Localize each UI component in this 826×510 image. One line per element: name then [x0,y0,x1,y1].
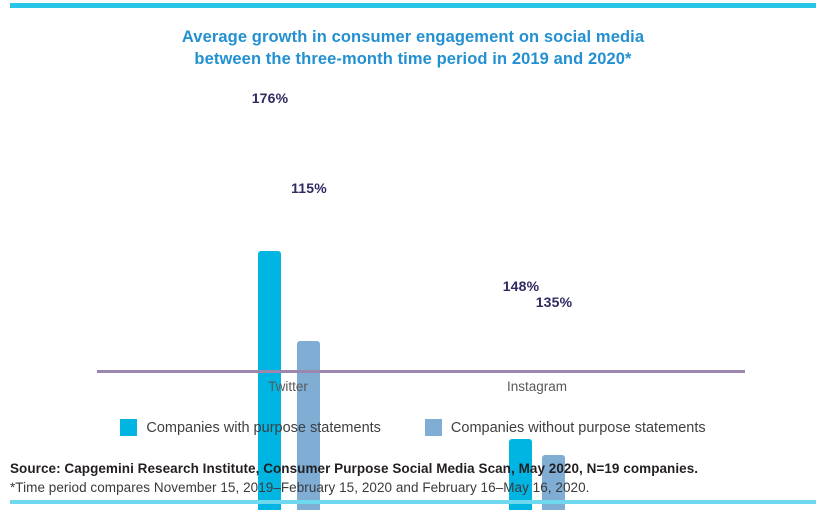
chart-legend: Companies with purpose statements Compan… [0,419,826,436]
bar-label-twitter-with: 176% [225,90,315,106]
source-footnote: *Time period compares November 15, 2019–… [10,478,820,497]
legend-swatch-icon-with-purpose [120,419,137,436]
bar-label-twitter-without: 115% [264,180,354,196]
legend-swatch-icon-without-purpose [425,419,442,436]
x-axis-line [97,370,745,373]
x-axis-label-instagram: Instagram [457,379,617,394]
source-note: Source: Capgemini Research Institute, Co… [10,459,820,497]
legend-label-with-purpose: Companies with purpose statements [146,420,381,436]
x-axis-label-twitter: Twitter [208,379,368,394]
legend-item-with-purpose[interactable]: Companies with purpose statements [120,419,381,436]
bottom-accent-rule [10,500,816,504]
source-citation: Source: Capgemini Research Institute, Co… [10,459,820,478]
legend-label-without-purpose: Companies without purpose statements [451,420,706,436]
legend-item-without-purpose[interactable]: Companies without purpose statements [425,419,706,436]
bar-label-instagram-without: 135% [509,294,599,310]
